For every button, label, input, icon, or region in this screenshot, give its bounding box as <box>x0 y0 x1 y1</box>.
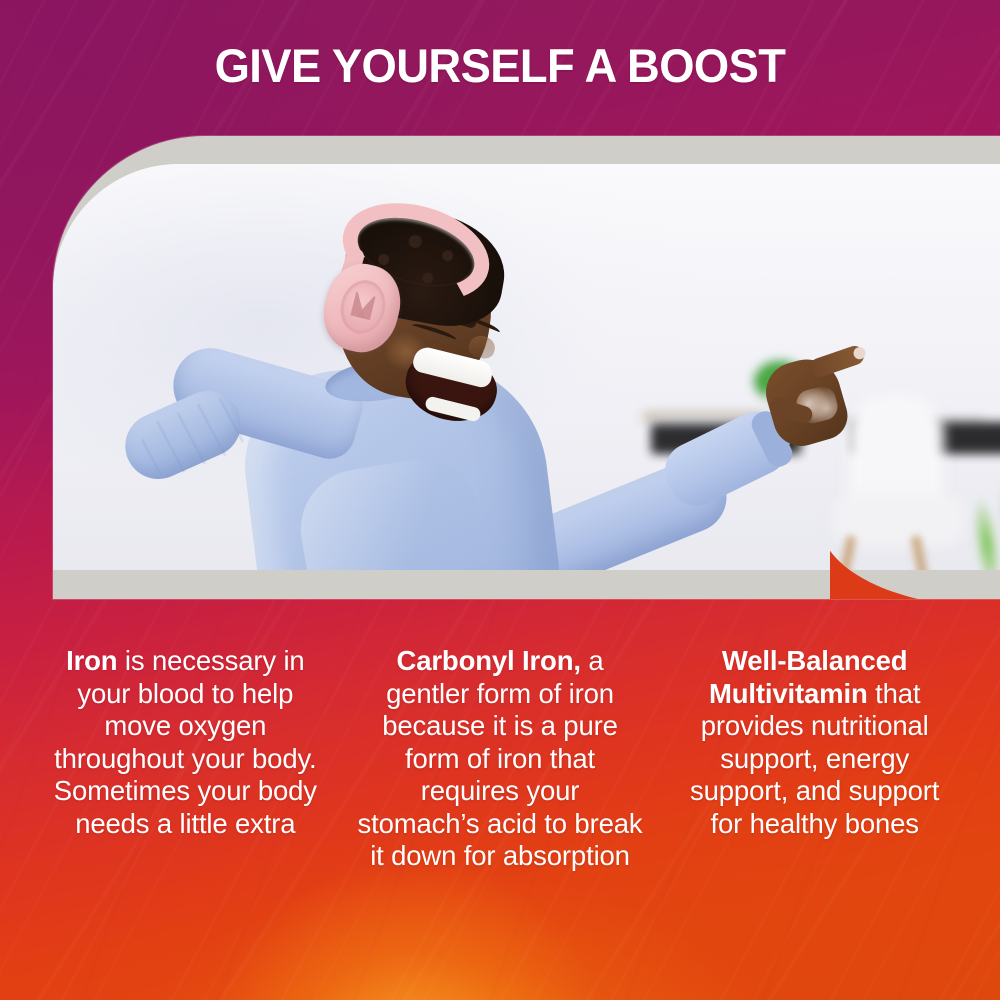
panel-corner-curve <box>830 529 1000 599</box>
photo-scene <box>53 164 1000 570</box>
person-figure <box>53 164 1000 570</box>
page-title: GIVE YOURSELF A BOOST <box>18 42 983 89</box>
benefit-columns: Iron is necessary in your blood to help … <box>0 645 1000 965</box>
benefit-column-iron: Iron is necessary in your blood to help … <box>28 645 343 840</box>
benefit-term-carbonyl-iron: Carbonyl Iron, <box>397 645 581 676</box>
benefit-column-carbonyl-iron: Carbonyl Iron, a gentler form of iron be… <box>343 645 658 873</box>
benefit-text-carbonyl-iron: a gentler form of iron because it is a p… <box>358 645 643 871</box>
benefit-term-iron: Iron <box>66 645 117 676</box>
chair-leg <box>911 536 928 570</box>
hero-photo-frame <box>53 136 1000 599</box>
benefit-column-multivitamin: Well-Balanced Multivitamin that provides… <box>657 645 972 840</box>
hero-photo <box>53 164 1000 570</box>
index-finger <box>807 343 866 379</box>
